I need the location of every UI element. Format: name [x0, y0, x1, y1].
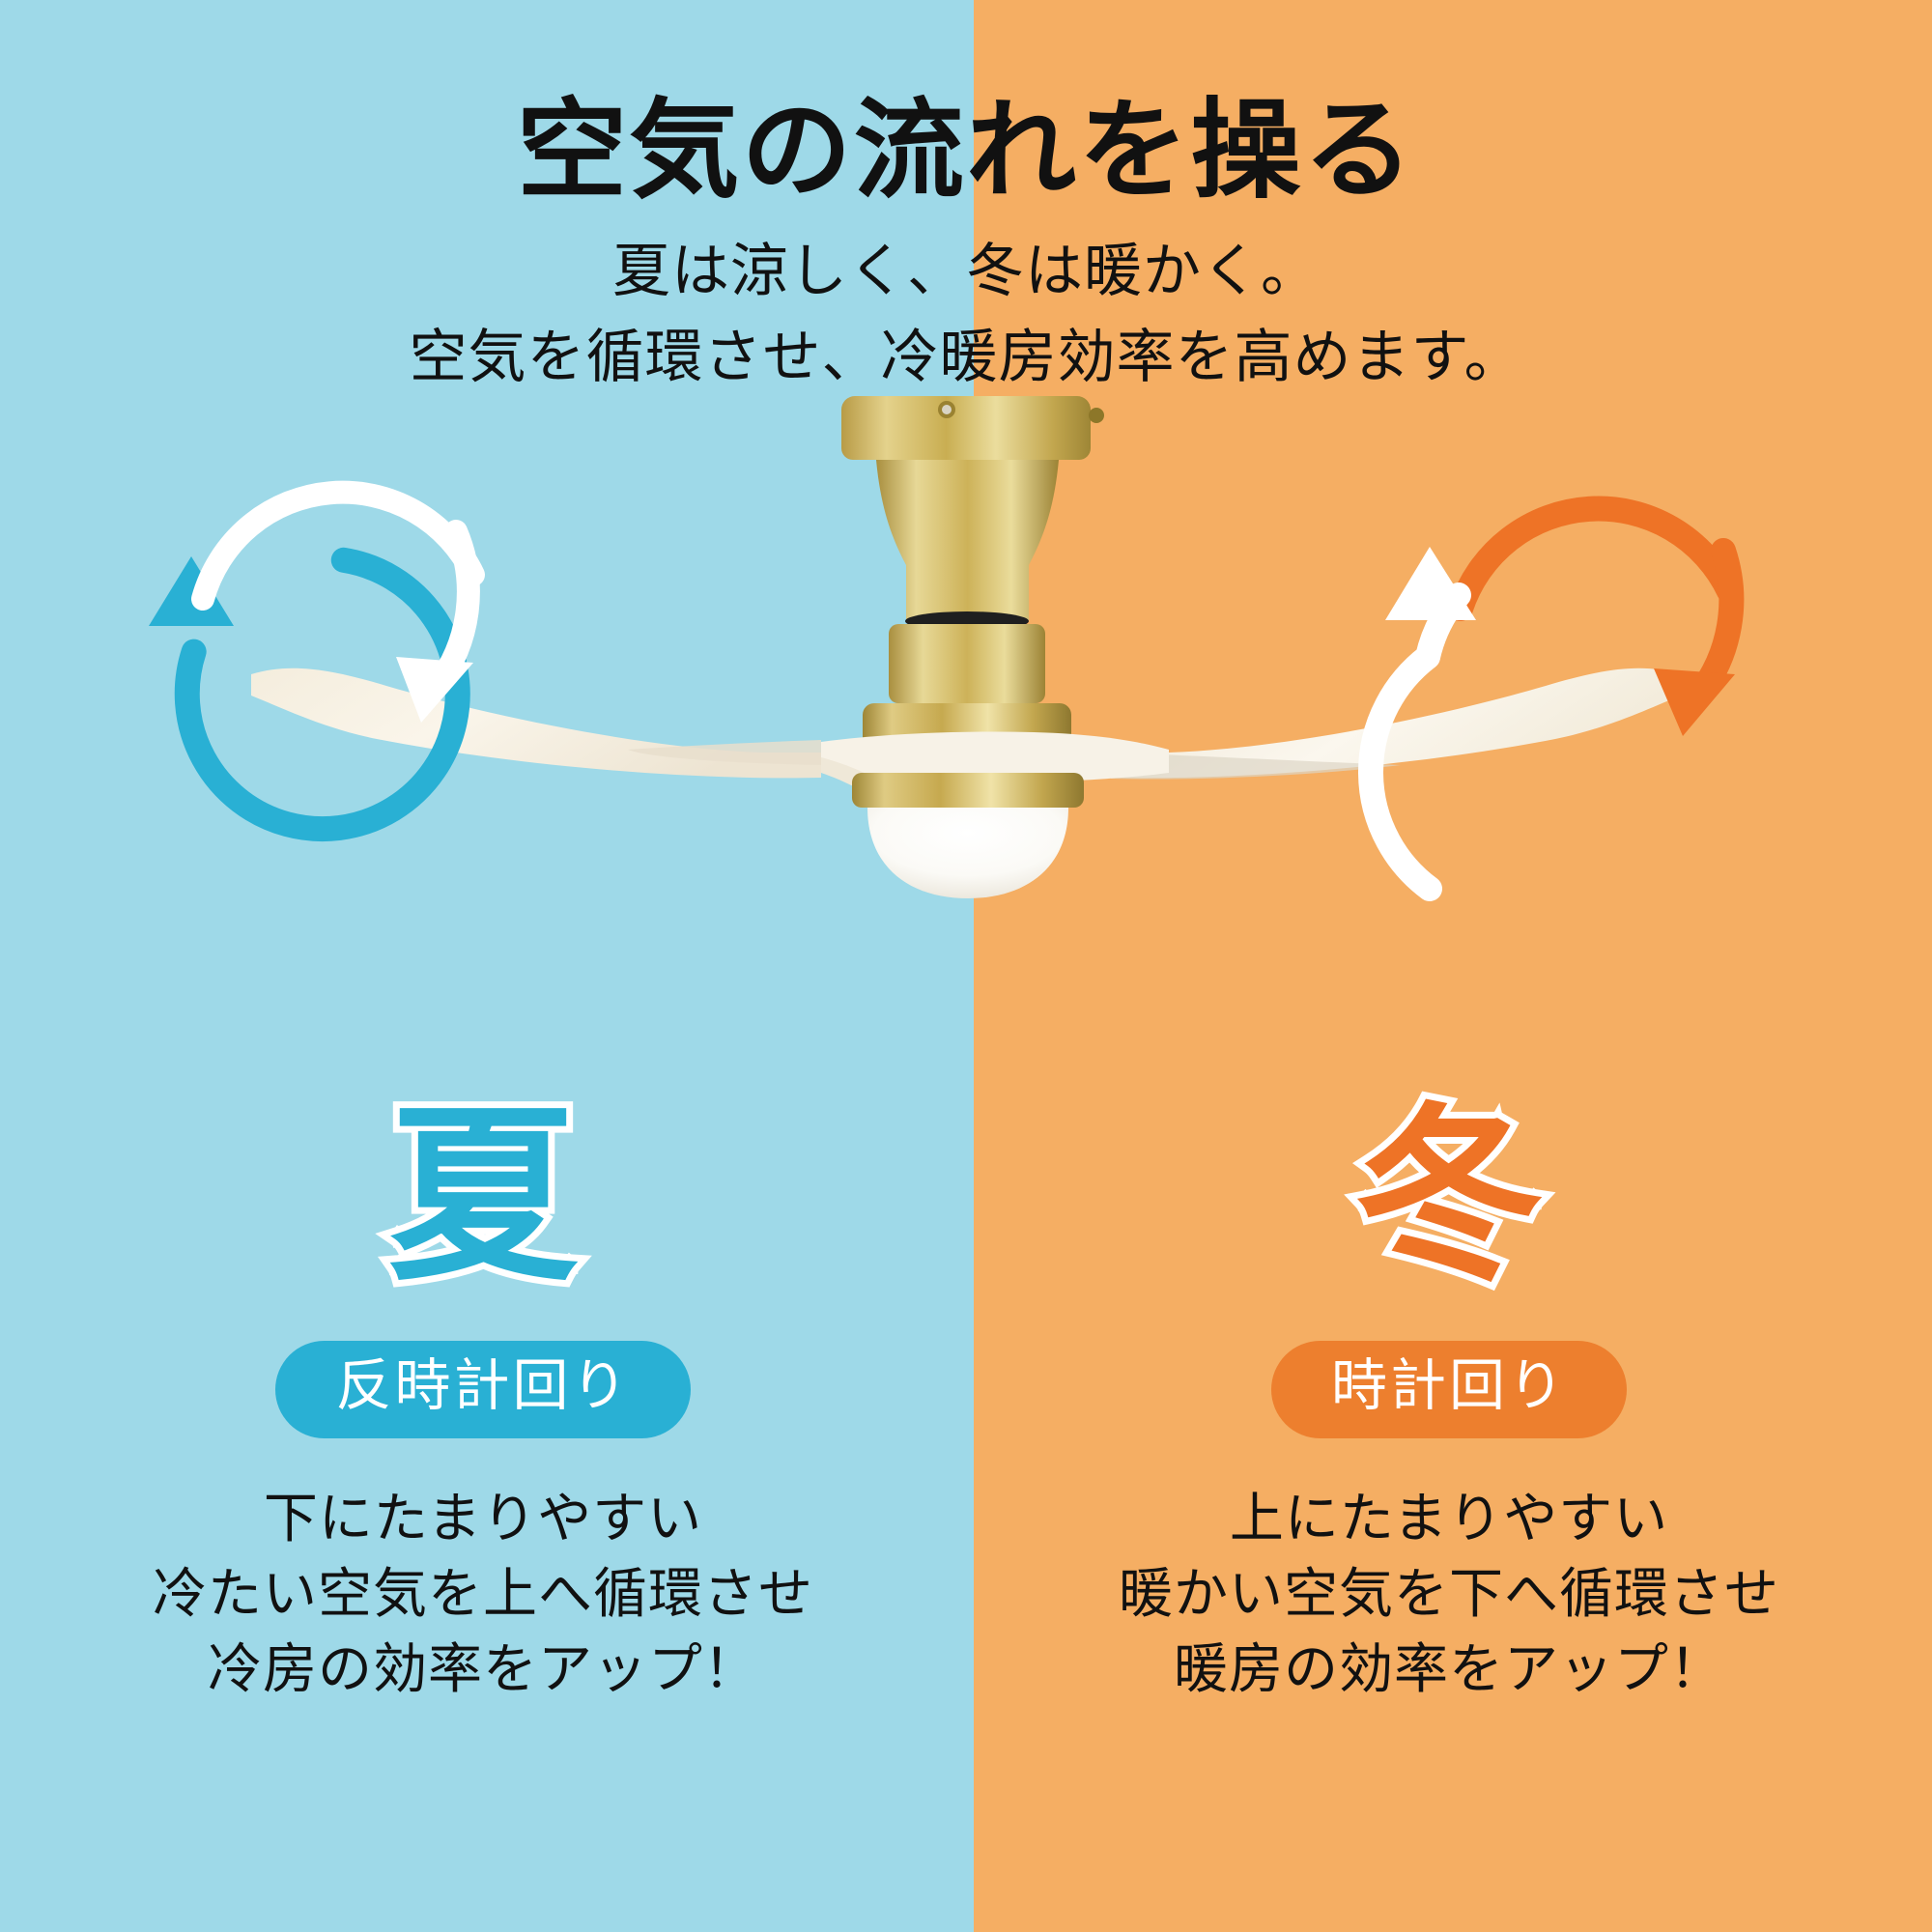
orange-arrowhead-down — [1654, 668, 1735, 736]
summer-rotation-badge[interactable]: 反時計回り — [275, 1341, 690, 1438]
light-globe — [867, 808, 1068, 898]
winter-panel: 冬 時計回り 上にたまりやすい 暖かい空気を下へ循環させ 暖房の効率をアップ！ — [966, 1101, 1932, 1708]
winter-desc-line-3: 暖房の効率をアップ！ — [966, 1632, 1932, 1707]
winter-rotation-arrows — [1314, 367, 1855, 908]
winter-arrows-svg — [1314, 367, 1855, 908]
subtitle: 夏は涼しく、冬は暖かく。 空気を循環させ、冷暖房効率を高めます。 — [0, 210, 1932, 395]
summer-rotation-arrows — [77, 367, 618, 908]
infographic-canvas: 空気の流れを操る 夏は涼しく、冬は暖かく。 空気を循環させ、冷暖房効率を高めます… — [0, 0, 1932, 1932]
subtitle-line-1: 夏は涼しく、冬は暖かく。 — [612, 239, 1320, 303]
light-kit-ring — [852, 773, 1084, 808]
winter-desc-line-2: 暖かい空気を下へ循環させ — [966, 1556, 1932, 1632]
summer-desc-line-1: 下にたまりやすい — [0, 1481, 966, 1556]
summer-arrows-svg — [77, 367, 618, 908]
winter-kanji: 冬 — [1354, 1101, 1544, 1291]
summer-panel: 夏 反時計回り 下にたまりやすい 冷たい空気を上へ循環させ 冷房の効率をアップ！ — [0, 1101, 966, 1708]
header: 空気の流れを操る 夏は涼しく、冬は暖かく。 空気を循環させ、冷暖房効率を高めます… — [0, 0, 1932, 395]
winter-rotation-badge[interactable]: 時計回り — [1271, 1341, 1627, 1438]
summer-desc-line-3: 冷房の効率をアップ！ — [0, 1632, 966, 1707]
summer-desc-line-2: 冷たい空気を上へ循環させ — [0, 1556, 966, 1632]
fan-canopy — [841, 396, 1091, 460]
page-title: 空気の流れを操る — [0, 0, 1932, 210]
winter-description: 上にたまりやすい 暖かい空気を下へ循環させ 暖房の効率をアップ！ — [966, 1481, 1932, 1708]
summer-description: 下にたまりやすい 冷たい空気を上へ循環させ 冷房の効率をアップ！ — [0, 1481, 966, 1708]
winter-desc-line-1: 上にたまりやすい — [966, 1481, 1932, 1556]
airflow-arrow-white — [1371, 547, 1476, 889]
summer-kanji: 夏 — [388, 1101, 578, 1291]
motor-housing-upper — [889, 624, 1045, 703]
subtitle-line-2: 空気を循環させ、冷暖房効率を高めます。 — [0, 321, 1932, 395]
clockwise-arrow-orange — [1461, 509, 1735, 736]
canopy-screw-head — [942, 405, 952, 414]
fan-downrod-neck — [876, 460, 1059, 620]
canopy-screw-icon-2 — [1089, 408, 1104, 423]
